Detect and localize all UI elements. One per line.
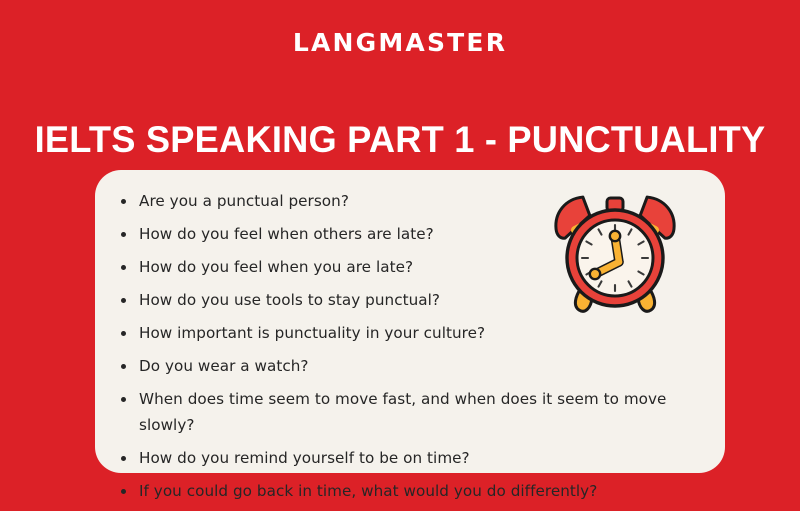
brand-logo: LANGMASTER [0, 30, 800, 55]
slide-canvas: LANGMASTER IELTS SPEAKING PART 1 - PUNCT… [0, 0, 800, 500]
list-item: When does time seem to move fast, and wh… [117, 386, 684, 438]
page-title: IELTS SPEAKING PART 1 - PUNCTUALITY [8, 117, 792, 163]
list-item: Do you wear a watch? [117, 353, 735, 379]
list-item: If you could go back in time, what would… [117, 478, 735, 504]
content-card: Are you a punctual person? How do you fe… [95, 170, 725, 473]
list-item: How do you remind yourself to be on time… [117, 445, 735, 471]
alarm-clock-icon [545, 184, 685, 324]
